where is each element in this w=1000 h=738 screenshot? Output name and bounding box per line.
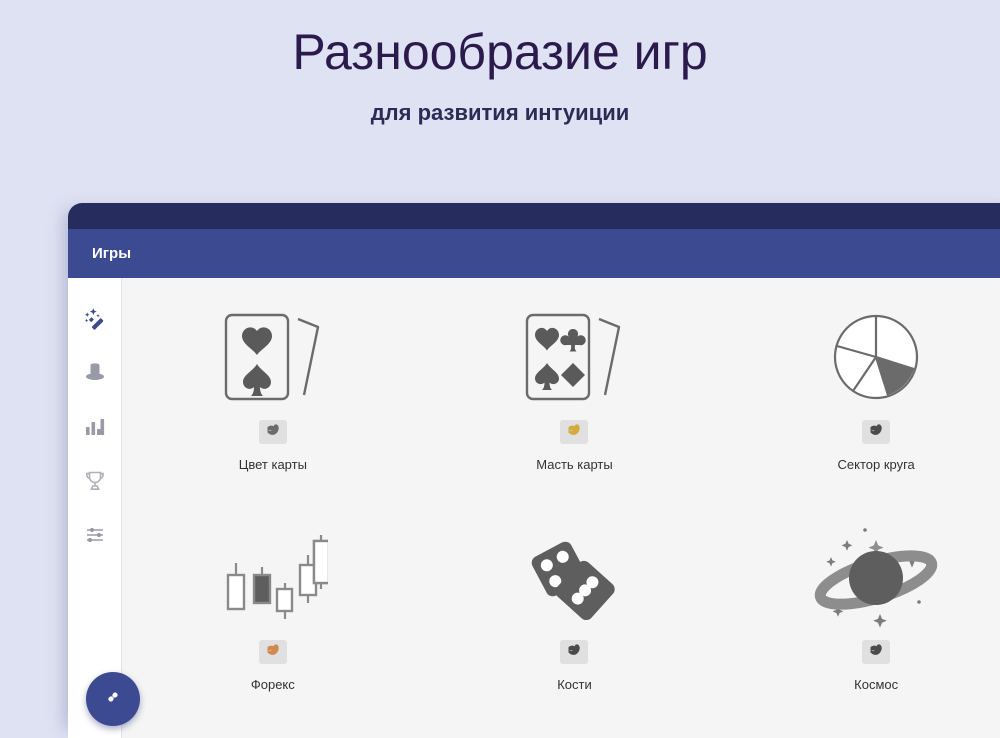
toolbar-title: Игры bbox=[92, 245, 131, 262]
games-grid: Цвет карты bbox=[122, 288, 1000, 728]
flexed-biceps-icon bbox=[566, 422, 582, 443]
game-tile-forex[interactable]: Форекс bbox=[122, 508, 424, 728]
game-label: Сектор круга bbox=[838, 457, 915, 472]
sidebar-item-settings[interactable] bbox=[68, 508, 121, 562]
playing-cards-two-suits-icon bbox=[218, 298, 328, 416]
difficulty-badge bbox=[862, 420, 890, 444]
difficulty-badge bbox=[560, 420, 588, 444]
flexed-biceps-icon bbox=[868, 422, 884, 443]
window-title-strip bbox=[68, 203, 1000, 229]
games-content-area: Цвет карты bbox=[122, 278, 1000, 738]
sidebar-item-magic[interactable] bbox=[68, 292, 121, 346]
game-tile-circle-sector[interactable]: Сектор круга bbox=[725, 288, 1000, 508]
game-label: Космос bbox=[854, 677, 898, 692]
app-window: Игры bbox=[68, 203, 1000, 738]
sidebar-item-hat[interactable] bbox=[68, 346, 121, 400]
game-tile-dice[interactable]: Кости bbox=[424, 508, 726, 728]
flexed-biceps-icon bbox=[566, 642, 582, 663]
sidebar bbox=[68, 278, 122, 738]
flexed-biceps-icon bbox=[868, 642, 884, 663]
two-dice-icon bbox=[519, 518, 629, 636]
pie-chart-icon bbox=[826, 298, 926, 416]
difficulty-badge bbox=[259, 640, 287, 664]
playing-cards-four-suits-icon bbox=[519, 298, 629, 416]
trophy-icon bbox=[82, 468, 108, 494]
planet-with-ring-icon bbox=[806, 518, 946, 636]
flexed-biceps-icon bbox=[265, 422, 281, 443]
game-label: Цвет карты bbox=[239, 457, 307, 472]
magic-wand-icon bbox=[82, 306, 108, 332]
window-body: Цвет карты bbox=[68, 278, 1000, 738]
game-label: Кости bbox=[557, 677, 592, 692]
game-label: Форекс bbox=[251, 677, 295, 692]
game-tile-space[interactable]: Космос bbox=[725, 508, 1000, 728]
bar-chart-icon bbox=[82, 414, 108, 440]
difficulty-badge bbox=[560, 640, 588, 664]
game-tile-card-color[interactable]: Цвет карты bbox=[122, 288, 424, 508]
promo-title: Разнообразие игр bbox=[0, 0, 1000, 82]
difficulty-badge bbox=[862, 640, 890, 664]
game-tile-card-suit[interactable]: Масть карты bbox=[424, 288, 726, 508]
game-label: Масть карты bbox=[536, 457, 613, 472]
difficulty-badge bbox=[259, 420, 287, 444]
promo-header: Разнообразие игр для развития интуиции bbox=[0, 0, 1000, 200]
app-toolbar: Игры bbox=[68, 229, 1000, 278]
sidebar-item-stats[interactable] bbox=[68, 400, 121, 454]
sidebar-item-trophy[interactable] bbox=[68, 454, 121, 508]
promo-subtitle: для развития интуиции bbox=[0, 82, 1000, 126]
sliders-icon bbox=[82, 522, 108, 548]
luck-fab-button[interactable] bbox=[86, 672, 140, 726]
flexed-biceps-icon bbox=[265, 642, 281, 663]
clover-icon bbox=[102, 686, 124, 713]
candlestick-chart-icon bbox=[218, 518, 328, 636]
top-hat-icon bbox=[82, 360, 108, 386]
